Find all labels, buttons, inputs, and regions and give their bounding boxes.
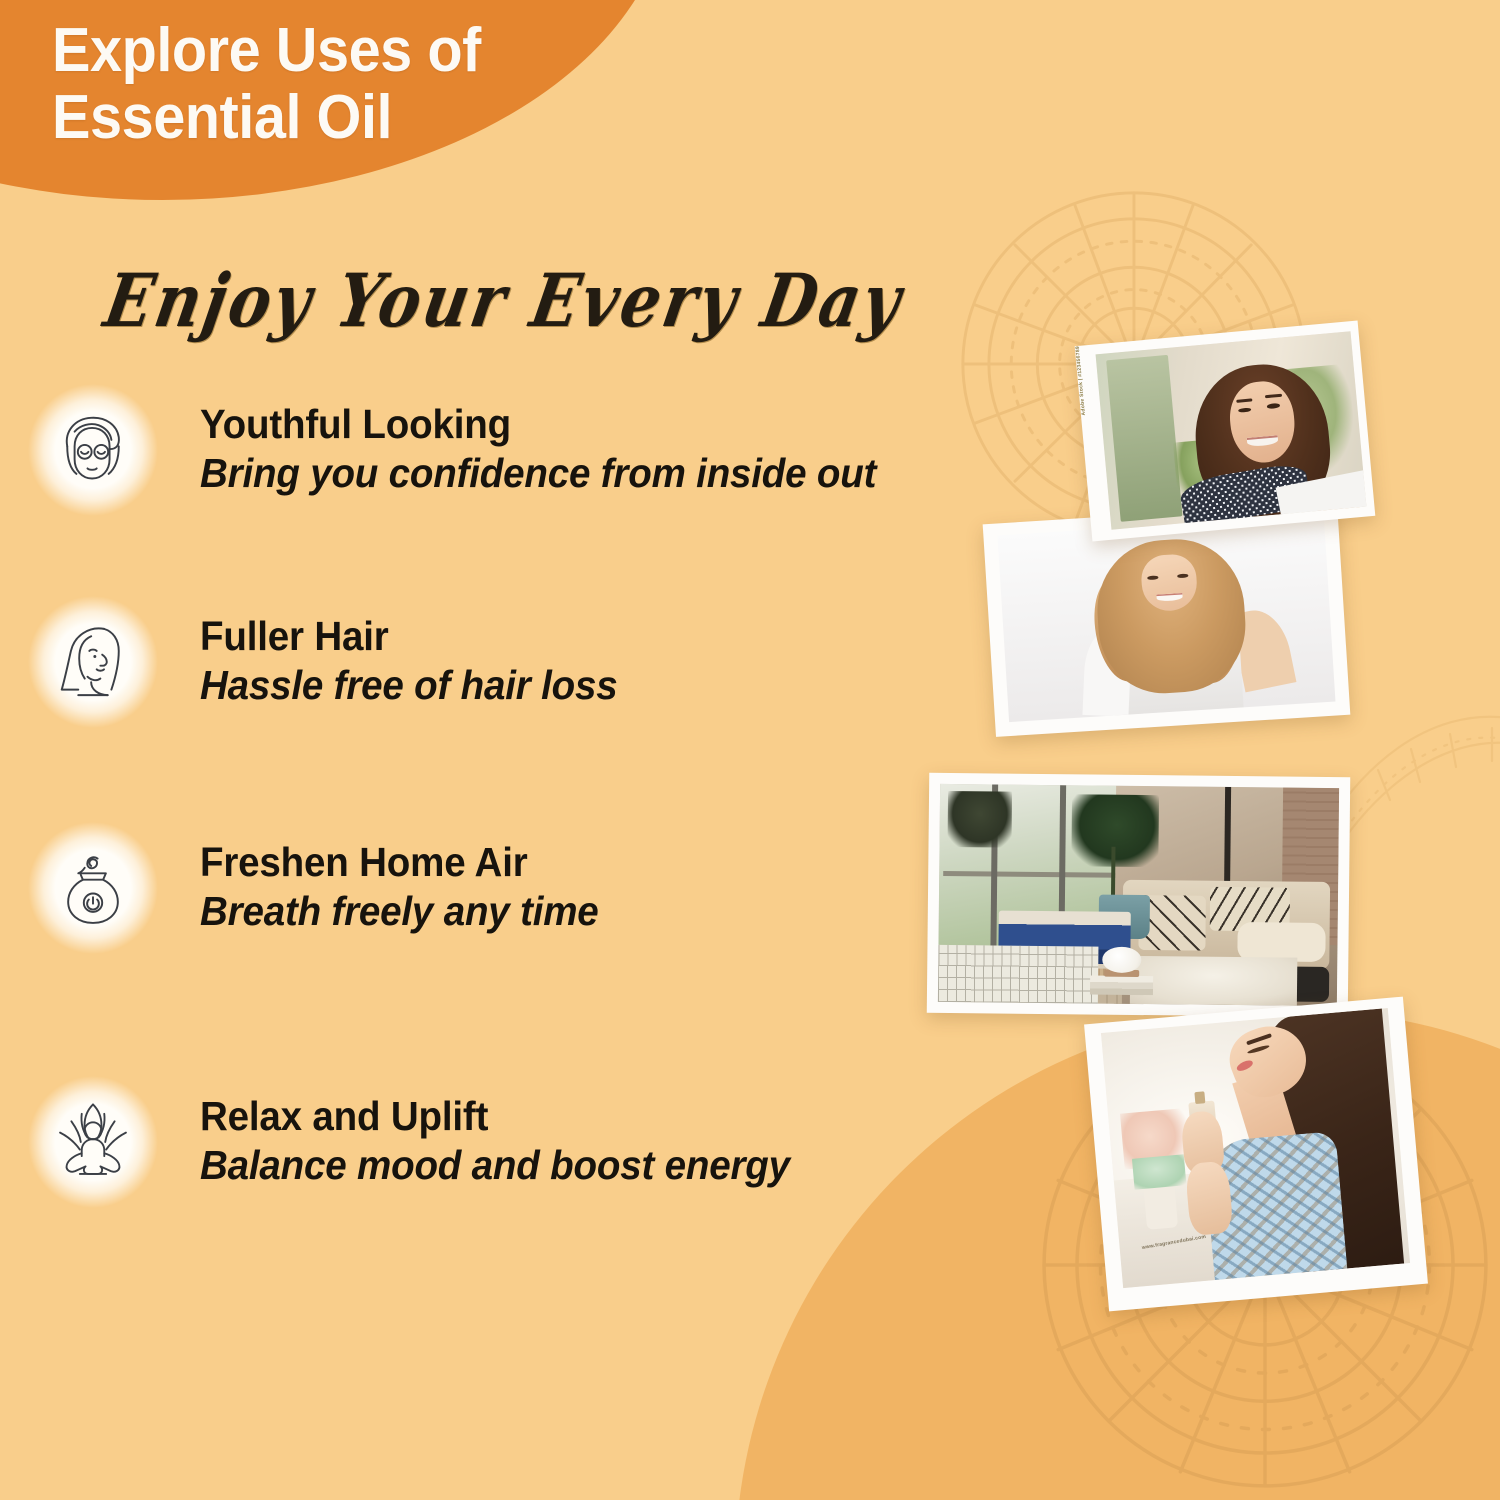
photo-blonde-wavy-hair bbox=[983, 502, 1351, 737]
feature-text-block: Youthful Looking Bring you confidence fr… bbox=[200, 403, 919, 496]
photo-boho-living-room-interior bbox=[927, 773, 1350, 1017]
feature-row-fuller-hair: Fuller Hair Hassle free of hair loss bbox=[28, 596, 1078, 728]
tagline-script: Enjoy Your Every Day bbox=[98, 257, 909, 343]
feature-text-block: Fuller Hair Hassle free of hair loss bbox=[200, 615, 644, 708]
feature-subtitle: Breath freely any time bbox=[200, 889, 599, 935]
feature-text-block: Freshen Home Air Breath freely any time bbox=[200, 841, 624, 934]
feature-title: Freshen Home Air bbox=[200, 841, 599, 884]
feature-subtitle: Balance mood and boost energy bbox=[200, 1143, 790, 1189]
photo-smiling-woman-brunette: Adobe Stock | #123456789 bbox=[1075, 321, 1376, 542]
lotus-meditation-icon bbox=[28, 1076, 158, 1208]
photo-woman-spraying-perfume: www.fragrancedubai.com bbox=[1084, 997, 1428, 1312]
feature-title: Fuller Hair bbox=[200, 615, 617, 658]
facial-mask-face-icon bbox=[28, 384, 158, 516]
page-title: Explore Uses of Essential Oil bbox=[52, 18, 629, 152]
feature-row-relax-and-uplift: Relax and Uplift Balance mood and boost … bbox=[28, 1076, 1078, 1208]
feature-row-freshen-home-air: Freshen Home Air Breath freely any time bbox=[28, 822, 1078, 954]
infographic-canvas: Explore Uses of Essential Oil Enjoy Your… bbox=[0, 0, 1500, 1500]
feature-text-block: Relax and Uplift Balance mood and boost … bbox=[200, 1095, 828, 1188]
feature-title: Youthful Looking bbox=[200, 403, 876, 446]
feature-subtitle: Bring you confidence from inside out bbox=[200, 451, 876, 497]
hair-profile-icon bbox=[28, 596, 158, 728]
aroma-diffuser-icon bbox=[28, 822, 158, 954]
feature-subtitle: Hassle free of hair loss bbox=[200, 663, 617, 709]
feature-title: Relax and Uplift bbox=[200, 1095, 790, 1138]
feature-row-youthful-looking: Youthful Looking Bring you confidence fr… bbox=[28, 384, 1078, 516]
